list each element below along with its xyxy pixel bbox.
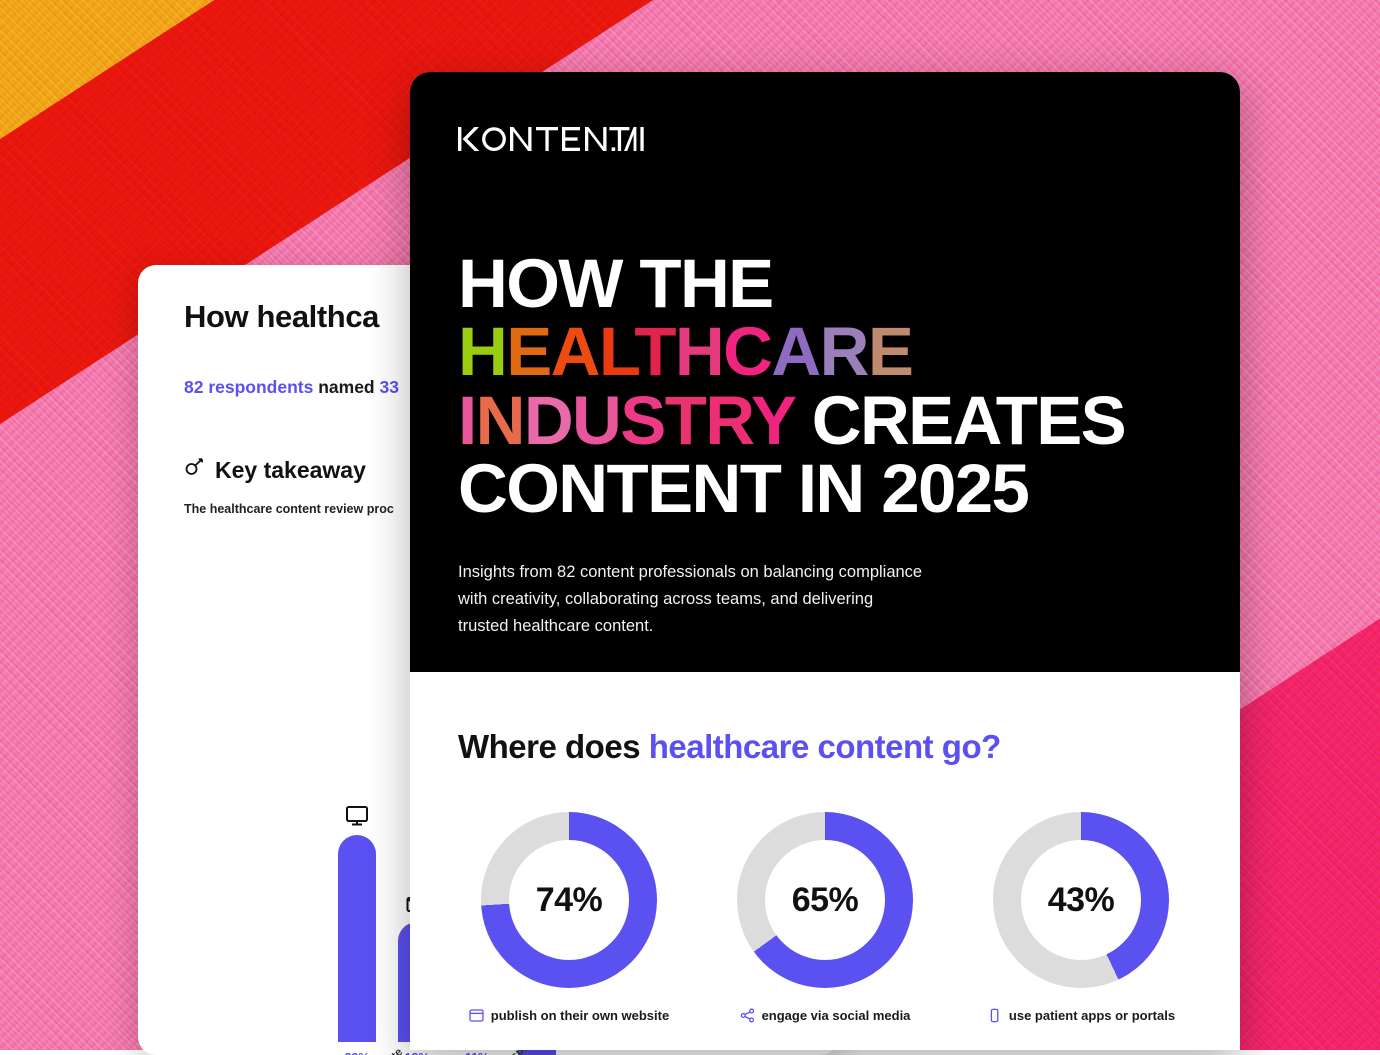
donut-cell-social[interactable]: 65% engage via social media <box>714 812 936 1023</box>
donut-caption-patient-apps: use patient apps or portals <box>987 1008 1175 1023</box>
section-title-accent: healthcare content go? <box>649 728 1001 765</box>
hero-subtitle-line: trusted healthcare content. <box>458 613 1018 640</box>
distribution-section: Where does healthcare content go? 74% pu… <box>410 672 1240 1050</box>
kontent-ai-logo[interactable] <box>458 124 1192 154</box>
hero-subtitle-line: with creativity, collaborating across te… <box>458 586 1018 613</box>
hero-title-char: R <box>705 382 751 459</box>
donut-caption-social: engage via social media <box>740 1008 911 1023</box>
hero-title-char: CREATES <box>794 382 1125 459</box>
section-title: Where does healthcare content go? <box>458 728 1192 766</box>
donut-cell-website[interactable]: 74% publish on their own website <box>458 812 680 1023</box>
tools-count: 33 <box>380 377 399 397</box>
hero-title-char: H <box>458 313 506 390</box>
hero-subtitle: Insights from 82 content professionals o… <box>458 559 1018 639</box>
hero-title-char: S <box>620 382 664 459</box>
hero-title-char: H <box>675 313 723 390</box>
hero-title-char: CONTENT IN 2025 <box>458 450 1028 527</box>
hero-title-line-4: CONTENT IN 2025 <box>458 455 1192 523</box>
hero-title-char: R <box>820 313 868 390</box>
monitor-icon <box>345 805 369 827</box>
hero-title-char: D <box>524 382 572 459</box>
donut-caption-label: use patient apps or portals <box>1009 1008 1175 1023</box>
bar-value-google-workspace: 11% <box>465 1051 489 1055</box>
donut-value-website: 74% <box>481 812 657 988</box>
respondents-count: 82 respondents <box>184 377 313 397</box>
hero-title-line-2: HEALTHCARE <box>458 318 1192 386</box>
donut-caption-website: publish on their own website <box>469 1008 669 1023</box>
donut-cell-patient-apps[interactable]: 43% use patient apps or portals <box>970 812 1192 1023</box>
front-report-card[interactable]: HOW THE HEALTHCARE INDUSTRY CREATES CONT… <box>410 72 1240 1050</box>
hero-title-char: C <box>723 313 771 390</box>
hero-title-char: I <box>458 382 476 459</box>
section-title-plain: Where does <box>458 728 649 765</box>
hero-title-char: T <box>665 382 706 459</box>
bar-microsoft-suite <box>338 835 376 1042</box>
subline-middle: named <box>313 377 379 397</box>
hero-title-char: N <box>476 382 524 459</box>
hero-title-line-3: INDUSTRY CREATES <box>458 387 1192 455</box>
hero-title-line-1: HOW THE <box>458 250 1192 318</box>
donut-chart-group: 74% publish on their own website 65% <box>458 812 1192 1023</box>
donut-caption-label: publish on their own website <box>491 1008 669 1023</box>
key-icon <box>184 456 206 484</box>
hero-title-char: HOW THE <box>458 245 773 322</box>
browser-window-icon <box>469 1008 484 1023</box>
hero-title-char: A <box>771 313 819 390</box>
donut-value-social: 65% <box>737 812 913 988</box>
hero-title-char: E <box>506 313 550 390</box>
donut-ring-patient-apps: 43% <box>993 812 1169 988</box>
hero-title: HOW THE HEALTHCARE INDUSTRY CREATES CONT… <box>458 250 1192 523</box>
hero-subtitle-line: Insights from 82 content professionals o… <box>458 559 1018 586</box>
donut-ring-website: 74% <box>481 812 657 988</box>
hero-title-char: A <box>551 313 599 390</box>
hero-title-char: U <box>572 382 620 459</box>
bar-column-microsoft-suite[interactable]: 23% <box>338 805 376 1055</box>
hero-title-char: T <box>634 313 675 390</box>
hero-section: HOW THE HEALTHCARE INDUSTRY CREATES CONT… <box>410 72 1240 672</box>
bar-value-microsoft-suite: 23% <box>344 1051 369 1055</box>
hero-title-char: Y <box>751 382 794 459</box>
donut-caption-label: engage via social media <box>762 1008 911 1023</box>
donut-ring-social: 65% <box>737 812 913 988</box>
hero-title-char: E <box>868 313 912 390</box>
donut-value-patient-apps: 43% <box>993 812 1169 988</box>
hero-title-char: L <box>599 313 634 390</box>
key-takeaway-label: Key takeaway <box>215 457 366 484</box>
mobile-phone-icon <box>987 1008 1002 1023</box>
bar-value-email: 12% <box>404 1051 429 1055</box>
share-icon <box>740 1008 755 1023</box>
